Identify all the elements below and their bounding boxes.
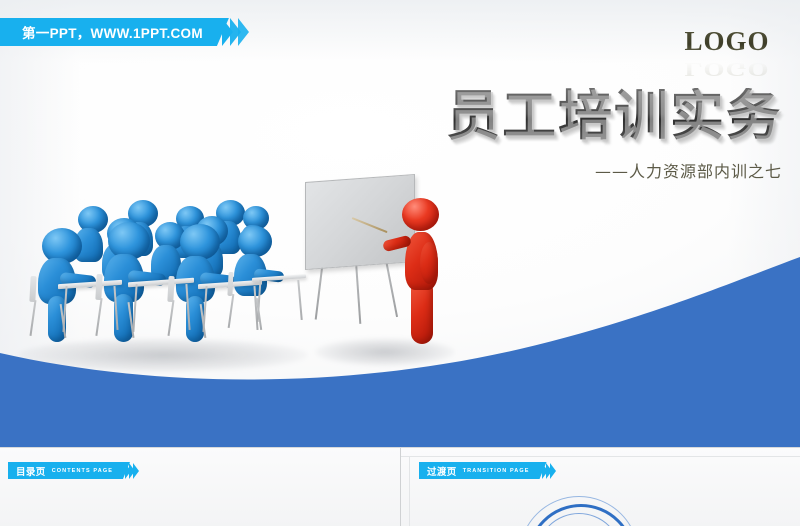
ground-shadow bbox=[315, 338, 455, 366]
logo-reflection: LOGO bbox=[672, 59, 782, 79]
site-banner-text: 第一PPT，WWW.1PPT.COM bbox=[22, 22, 203, 42]
presenter-head bbox=[402, 198, 439, 231]
thumbnail-tag-bar: 过渡页 TRANSITION PAGE bbox=[419, 462, 547, 479]
chair bbox=[167, 276, 174, 302]
training-illustration bbox=[0, 170, 500, 400]
student-head bbox=[180, 224, 220, 260]
chevron-right-icon bbox=[550, 463, 556, 479]
easel-leg bbox=[385, 260, 398, 317]
site-banner-bar: 第一PPT，WWW.1PPT.COM bbox=[0, 18, 229, 46]
thumbnail-label-cn: 目录页 bbox=[16, 464, 46, 478]
thumbnail-hairline bbox=[401, 456, 800, 457]
chevron-right-icon bbox=[238, 18, 249, 46]
chair-leg bbox=[168, 300, 175, 336]
thumbnail-transition-page[interactable]: 过渡页 TRANSITION PAGE bbox=[401, 448, 800, 526]
presentation-slide-preview: 第一PPT，WWW.1PPT.COM LOGO LOGO 员工培训实务 ——人力… bbox=[0, 0, 800, 526]
student-head bbox=[238, 226, 272, 257]
logo-text: LOGO bbox=[672, 28, 782, 55]
thumbnail-circle-decoration bbox=[519, 496, 639, 526]
chair-leg bbox=[228, 294, 235, 328]
chair bbox=[29, 276, 36, 302]
page-title: 员工培训实务 bbox=[362, 88, 782, 145]
presenter-legs bbox=[411, 282, 433, 344]
chair bbox=[95, 274, 102, 300]
thumbnail-hairline bbox=[409, 456, 410, 526]
banner-chevron-group bbox=[225, 18, 249, 46]
thumbnail-tag-bar: 目录页 CONTENTS PAGE bbox=[8, 462, 130, 479]
site-banner: 第一PPT，WWW.1PPT.COM bbox=[0, 18, 249, 46]
thumbnail-tag: 过渡页 TRANSITION PAGE bbox=[419, 462, 556, 479]
thumbnail-canvas bbox=[0, 448, 400, 526]
chair-leg bbox=[95, 298, 102, 336]
slide-canvas: 第一PPT，WWW.1PPT.COM LOGO LOGO 员工培训实务 ——人力… bbox=[0, 0, 800, 447]
thumbnail-tag: 目录页 CONTENTS PAGE bbox=[8, 462, 139, 479]
chevron-right-icon bbox=[133, 463, 139, 479]
thumbnail-label-en: TRANSITION PAGE bbox=[463, 468, 530, 474]
thumbnail-contents-page[interactable]: 目录页 CONTENTS PAGE bbox=[0, 448, 401, 526]
desk-leg bbox=[297, 280, 302, 320]
chair bbox=[227, 272, 233, 296]
chair-leg bbox=[30, 300, 37, 336]
ground-shadow bbox=[18, 338, 308, 372]
logo-block: LOGO LOGO bbox=[672, 28, 782, 83]
thumbnail-label-cn: 过渡页 bbox=[427, 464, 457, 478]
slide-thumbnail-strip: 目录页 CONTENTS PAGE 过渡页 TRANSITION PAGE bbox=[0, 447, 800, 526]
presenter-torso-highlight bbox=[420, 242, 438, 284]
thumbnail-label-en: CONTENTS PAGE bbox=[52, 468, 113, 474]
title-block: 员工培训实务 ——人力资源部内训之七 bbox=[362, 88, 782, 182]
easel-leg bbox=[355, 262, 361, 324]
